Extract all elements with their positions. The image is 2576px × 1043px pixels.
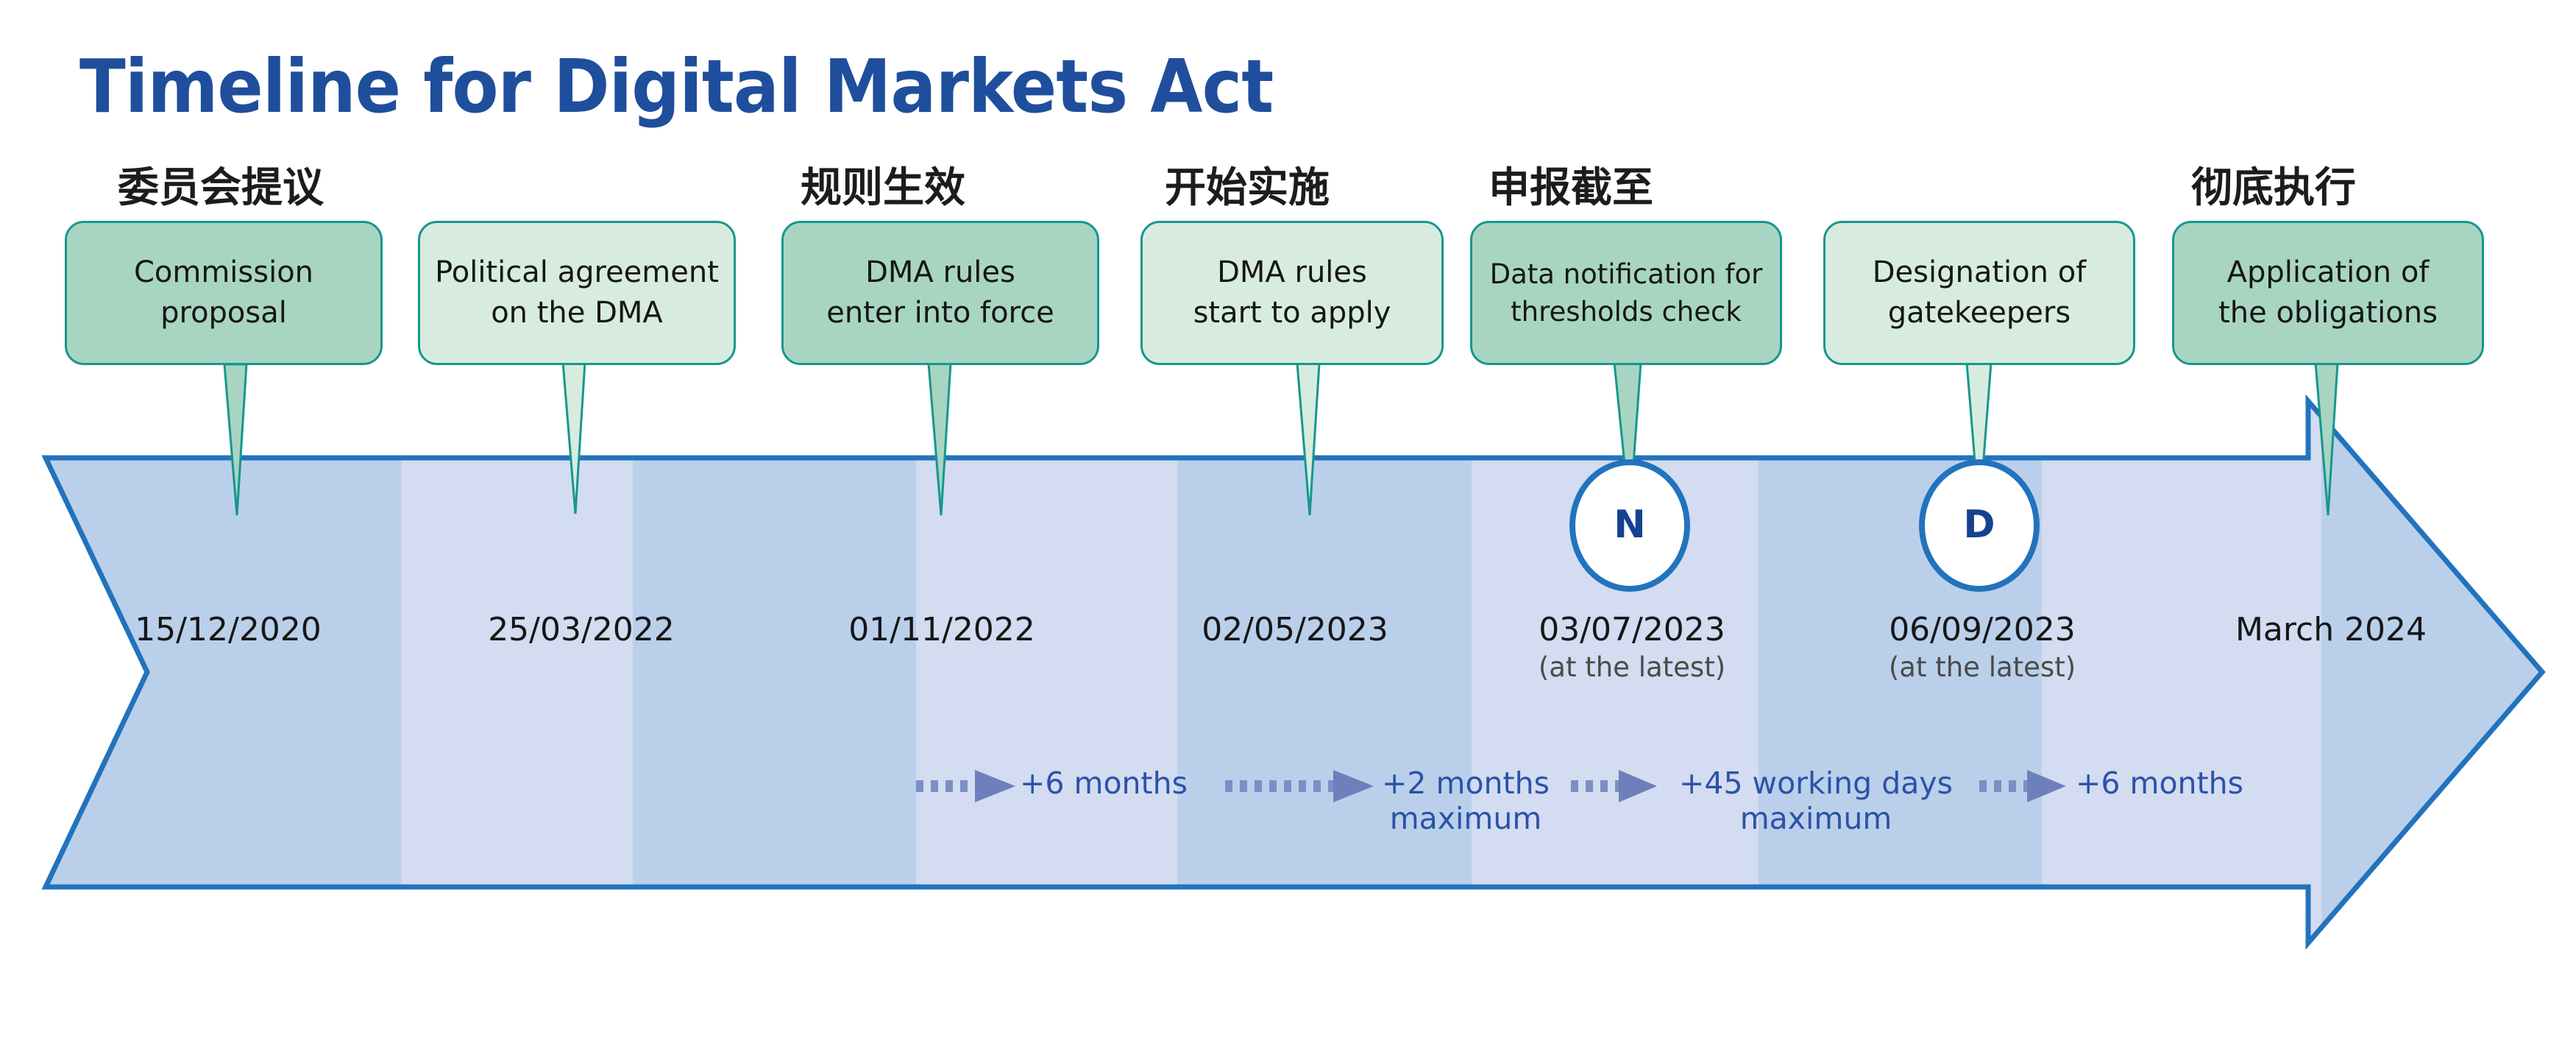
duration-label-2: +45 working days maximum bbox=[1654, 766, 1978, 837]
date-label-6: March 2024 bbox=[2184, 611, 2478, 648]
callout-box-0[interactable]: Commission proposal bbox=[65, 221, 383, 365]
callout-box-2[interactable]: DMA rules enter into force bbox=[781, 221, 1099, 365]
marker-letter-d: D bbox=[1942, 503, 2016, 547]
callout-line-2: gatekeepers bbox=[1888, 296, 2071, 330]
duration-label-3: +6 months bbox=[2068, 766, 2252, 801]
callout-line-1: Political agreement bbox=[435, 255, 719, 289]
date-note-4: (at the latest) bbox=[1485, 651, 1779, 683]
date-label-5: 06/09/2023 bbox=[1835, 611, 2129, 648]
callout-text-4: Data notification for thresholds check bbox=[1490, 255, 1763, 330]
callout-text-2: DMA rules enter into force bbox=[826, 252, 1054, 333]
cn-label-3: 开始实施 bbox=[1107, 168, 1387, 209]
callout-text-0: Commission proposal bbox=[134, 252, 313, 333]
callout-box-5[interactable]: Designation of gatekeepers bbox=[1823, 221, 2135, 365]
callout-text-1: Political agreement on the DMA bbox=[435, 252, 719, 333]
callout-line-2: proposal bbox=[160, 296, 287, 330]
date-label-1: 25/03/2022 bbox=[434, 611, 728, 648]
callout-line-2: start to apply bbox=[1193, 296, 1391, 330]
cn-label-4: 申报截至 bbox=[1431, 168, 1711, 209]
date-label-4: 03/07/2023 bbox=[1485, 611, 1779, 648]
callout-line-1: DMA rules bbox=[1217, 255, 1367, 289]
date-label-0: 15/12/2020 bbox=[81, 611, 375, 648]
callout-line-1: Designation of bbox=[1873, 255, 2087, 289]
date-label-2: 01/11/2022 bbox=[795, 611, 1089, 648]
callout-line-1: Application of bbox=[2227, 255, 2430, 289]
callout-line-2: on the DMA bbox=[491, 296, 663, 330]
callout-box-3[interactable]: DMA rules start to apply bbox=[1140, 221, 1444, 365]
cn-label-2: 规则生效 bbox=[743, 168, 1023, 209]
marker-letter-n: N bbox=[1593, 503, 1667, 547]
duration-label-0: +6 months bbox=[1012, 766, 1196, 801]
callout-box-6[interactable]: Application of the obligations bbox=[2172, 221, 2484, 365]
date-label-3: 02/05/2023 bbox=[1148, 611, 1442, 648]
callout-line-1: Commission bbox=[134, 255, 313, 289]
page-title: Timeline for Digital Markets Act bbox=[79, 50, 1273, 124]
callout-box-4[interactable]: Data notification for thresholds check bbox=[1470, 221, 1782, 365]
cn-label-6: 彻底执行 bbox=[2134, 168, 2413, 209]
callout-line-2: enter into force bbox=[826, 296, 1054, 330]
date-note-5: (at the latest) bbox=[1835, 651, 2129, 683]
callout-line-2: the obligations bbox=[2218, 296, 2438, 330]
callout-text-6: Application of the obligations bbox=[2218, 252, 2438, 333]
timeline-bands bbox=[0, 397, 2576, 950]
callout-text-3: DMA rules start to apply bbox=[1193, 252, 1391, 333]
callout-line-2: thresholds check bbox=[1511, 296, 1742, 328]
cn-label-0: 委员会提议 bbox=[81, 168, 361, 209]
callout-text-5: Designation of gatekeepers bbox=[1873, 252, 2087, 333]
timeline-arrow bbox=[0, 0, 2576, 1043]
callout-box-1[interactable]: Political agreement on the DMA bbox=[418, 221, 736, 365]
duration-label-1: +2 months maximum bbox=[1370, 766, 1561, 837]
callout-line-1: DMA rules bbox=[865, 255, 1015, 289]
callout-line-1: Data notification for bbox=[1490, 258, 1763, 290]
